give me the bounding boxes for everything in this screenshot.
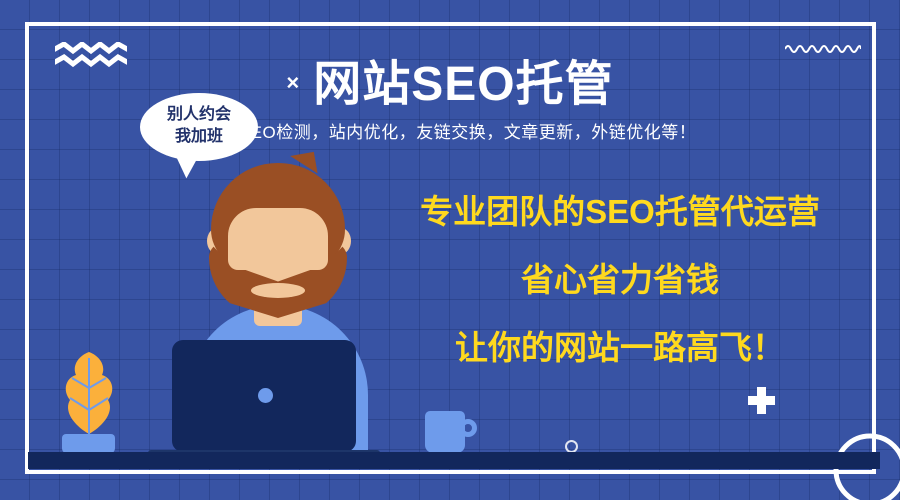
desk-surface xyxy=(28,452,880,469)
coffee-mug-icon xyxy=(425,411,465,453)
mouth-shape xyxy=(251,283,305,298)
potted-plant-icon xyxy=(56,348,122,440)
laptop-logo-icon xyxy=(258,388,273,403)
plus-icon xyxy=(748,387,775,414)
forehead-shape xyxy=(228,208,328,270)
seo-promo-banner: ×网站SEO托管 含：SEO检测，站内优化，友链交换，文章更新，外链优化等！ 专… xyxy=(0,0,900,500)
plant-pot-shape xyxy=(62,434,115,454)
